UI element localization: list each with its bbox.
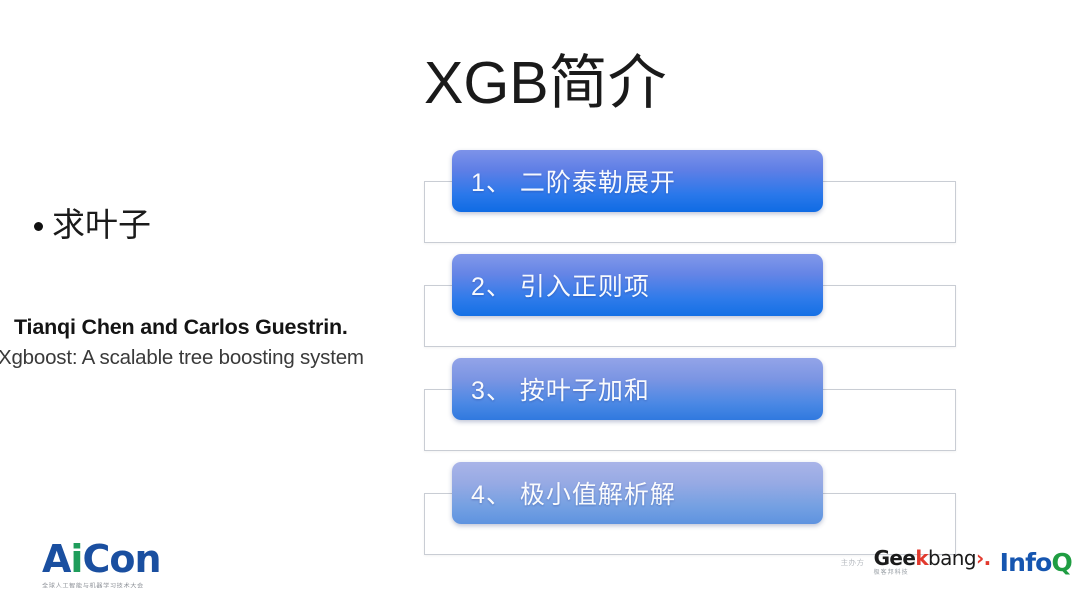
- geekbang-gee: Gee: [874, 546, 916, 570]
- infoq-logo: InfoQ: [1000, 550, 1072, 575]
- geekbang-subtitle: 极客邦科技: [874, 570, 909, 576]
- aicon-logo: AiCon 全球人工智能与机器学习技术大会: [42, 540, 242, 590]
- geekbang-wordmark: Geekbang›.: [874, 548, 991, 568]
- step-row-2: 2、 引入正则项: [0, 254, 1080, 358]
- aicon-wordmark: AiCon: [42, 540, 242, 578]
- step-row-1: 1、 二阶泰勒展开: [0, 150, 1080, 254]
- aicon-letter-i: i: [70, 537, 82, 581]
- geekbang-k: k: [915, 546, 928, 570]
- infoq-info: Info: [1000, 548, 1052, 577]
- step-pill-4[interactable]: 4、 极小值解析解: [452, 462, 823, 524]
- step-pill-3[interactable]: 3、 按叶子加和: [452, 358, 823, 420]
- infoq-q: Q: [1052, 548, 1072, 577]
- step-label-3: 3、 按叶子加和: [452, 371, 650, 407]
- step-label-1: 1、 二阶泰勒展开: [452, 163, 676, 199]
- geekbang-bang: bang: [928, 546, 976, 570]
- sponsor-logo-group: 主办方 Geekbang›. 极客邦科技 InfoQ: [841, 548, 1072, 576]
- step-row-3: 3、 按叶子加和: [0, 358, 1080, 462]
- step-pill-1[interactable]: 1、 二阶泰勒展开: [452, 150, 823, 212]
- aicon-letter-a: A: [42, 537, 70, 581]
- sponsor-label: 主办方: [841, 557, 865, 568]
- step-label-4: 4、 极小值解析解: [452, 475, 676, 511]
- page-title: XGB简介: [424, 52, 984, 116]
- geekbang-logo: Geekbang›. 极客邦科技: [874, 548, 991, 576]
- aicon-subtitle: 全球人工智能与机器学习技术大会: [42, 581, 242, 589]
- slide-canvas: XGB简介 求叶子 Tianqi Chen and Carlos Guestri…: [0, 0, 1080, 599]
- geekbang-arrow-icon: ›.: [976, 546, 991, 570]
- aicon-letter-con: Con: [82, 537, 160, 581]
- step-label-2: 2、 引入正则项: [452, 267, 650, 303]
- step-pill-2[interactable]: 2、 引入正则项: [452, 254, 823, 316]
